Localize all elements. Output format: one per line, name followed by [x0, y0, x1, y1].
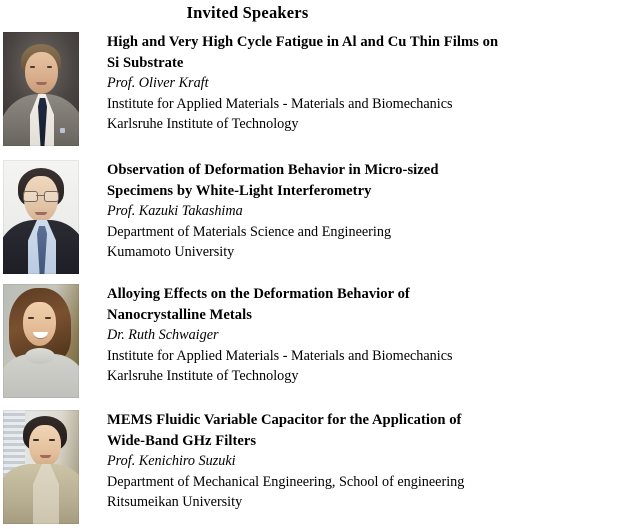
speaker-details: MEMS Fluidic Variable Capacitor for the … [79, 410, 625, 513]
speaker-name: Prof. Kazuki Takashima [107, 201, 540, 222]
speaker-details: Alloying Effects on the Deformation Beha… [79, 284, 625, 387]
affiliation-line-2: Ritsumeikan University [107, 492, 540, 513]
invited-speakers-page: Invited Speakers [0, 0, 625, 529]
speaker-details: High and Very High Cycle Fatigue in Al a… [79, 32, 625, 135]
affiliation-line-2: Karlsruhe Institute of Technology [107, 114, 540, 135]
list-item: High and Very High Cycle Fatigue in Al a… [0, 32, 625, 146]
speaker-details: Observation of Deformation Behavior in M… [79, 160, 625, 263]
talk-title-line-2: Si Substrate [107, 53, 540, 74]
talk-title-line-2: Specimens by White-Light Interferometry [107, 181, 540, 202]
talk-title: Alloying Effects on the Deformation Beha… [107, 284, 540, 325]
affiliation-line-2: Kumamoto University [107, 242, 540, 263]
talk-title-line-1: High and Very High Cycle Fatigue in Al a… [107, 34, 498, 50]
speaker-name: Prof. Oliver Kraft [107, 73, 540, 94]
speaker-name: Dr. Ruth Schwaiger [107, 325, 540, 346]
talk-title-line-1: MEMS Fluidic Variable Capacitor for the … [107, 412, 461, 428]
list-item: MEMS Fluidic Variable Capacitor for the … [0, 410, 625, 524]
affiliation-line-1: Department of Mechanical Engineering, Sc… [107, 472, 540, 493]
avatar [3, 32, 79, 146]
avatar [3, 410, 79, 524]
affiliation-line-1: Department of Materials Science and Engi… [107, 222, 540, 243]
avatar [3, 284, 79, 398]
talk-title-line-2: Nanocrystalline Metals [107, 305, 540, 326]
talk-title: MEMS Fluidic Variable Capacitor for the … [107, 410, 540, 451]
list-item: Observation of Deformation Behavior in M… [0, 160, 625, 274]
speaker-name: Prof. Kenichiro Suzuki [107, 451, 540, 472]
affiliation-line-1: Institute for Applied Materials - Materi… [107, 346, 540, 367]
affiliation-line-1: Institute for Applied Materials - Materi… [107, 94, 540, 115]
talk-title: Observation of Deformation Behavior in M… [107, 160, 540, 201]
page-title: Invited Speakers [0, 0, 625, 23]
talk-title-line-1: Alloying Effects on the Deformation Beha… [107, 286, 410, 302]
affiliation-line-2: Karlsruhe Institute of Technology [107, 366, 540, 387]
talk-title: High and Very High Cycle Fatigue in Al a… [107, 32, 540, 73]
list-item: Alloying Effects on the Deformation Beha… [0, 284, 625, 398]
talk-title-line-2: Wide-Band GHz Filters [107, 431, 540, 452]
speaker-list: High and Very High Cycle Fatigue in Al a… [0, 32, 625, 524]
talk-title-line-1: Observation of Deformation Behavior in M… [107, 162, 439, 178]
avatar [3, 160, 79, 274]
